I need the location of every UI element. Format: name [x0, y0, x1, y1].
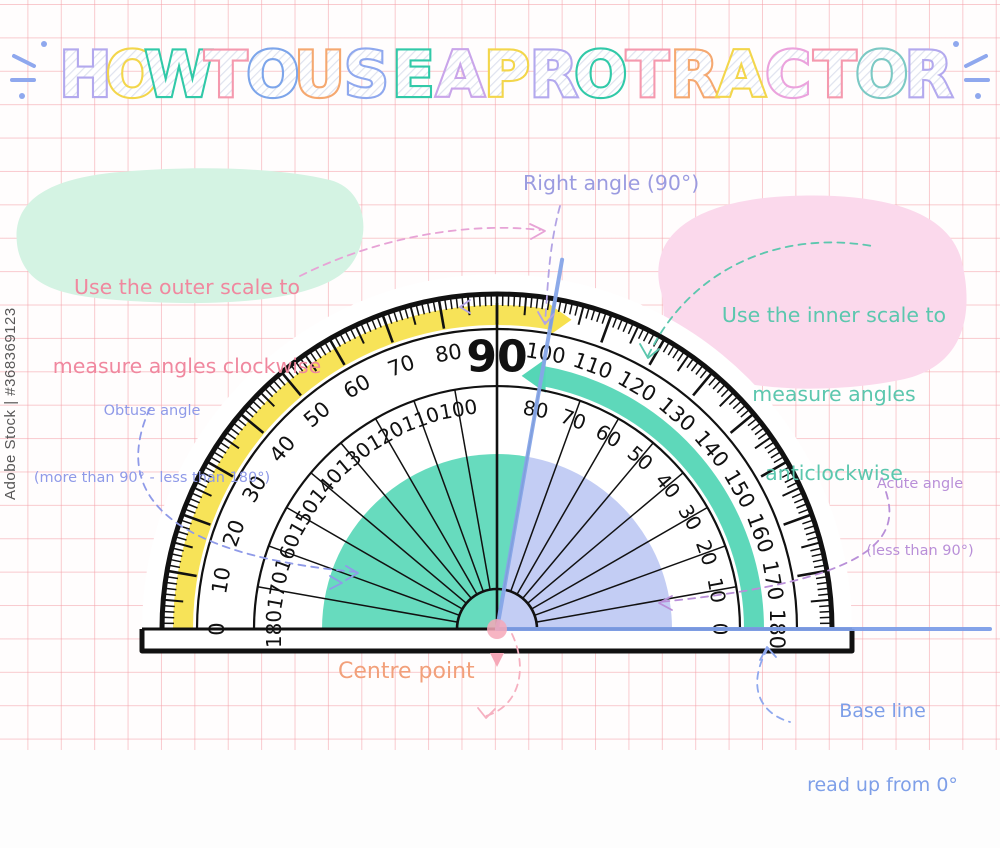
infographic-canvas: HOWTOUSEAPROTRACTOR 01020304050607080901… [0, 0, 1000, 750]
arrowhead-mid-left [330, 576, 342, 589]
stock-watermark: Adobe Stock | #368369123 [2, 307, 19, 500]
callout-base-line: Base line read up from 0° [775, 650, 990, 848]
arrowhead-top-left [460, 300, 470, 313]
arrowhead-base [760, 647, 776, 660]
callout-obtuse-line1: Obtuse angle [18, 400, 286, 422]
callout-acute-angle: Acute angle (less than 90°) [845, 428, 995, 608]
callout-base-line2: read up from 0° [775, 773, 990, 798]
callout-inner-line2: measure angles [690, 381, 978, 407]
callout-acute-line1: Acute angle [845, 473, 995, 495]
arrowhead-outer [530, 224, 545, 239]
callout-inner-line1: Use the inner scale to [690, 302, 978, 328]
callout-acute-line2: (less than 90°) [845, 540, 995, 562]
arrowhead-obtuse [346, 566, 358, 580]
leader-centre-point [486, 634, 520, 716]
callout-right-angle: Right angle (90°) [523, 170, 699, 196]
callout-centre-point: Centre point [338, 658, 475, 686]
callout-outer-line1: Use the outer scale to [22, 274, 352, 300]
callout-obtuse-line2: (more than 90° - less than 180°) [18, 467, 286, 489]
leader-right-angle [545, 206, 560, 322]
callout-obtuse-angle: Obtuse angle (more than 90° - less than … [18, 355, 286, 535]
callout-base-line1: Base line [775, 699, 990, 724]
arrowhead-acute [659, 596, 672, 610]
